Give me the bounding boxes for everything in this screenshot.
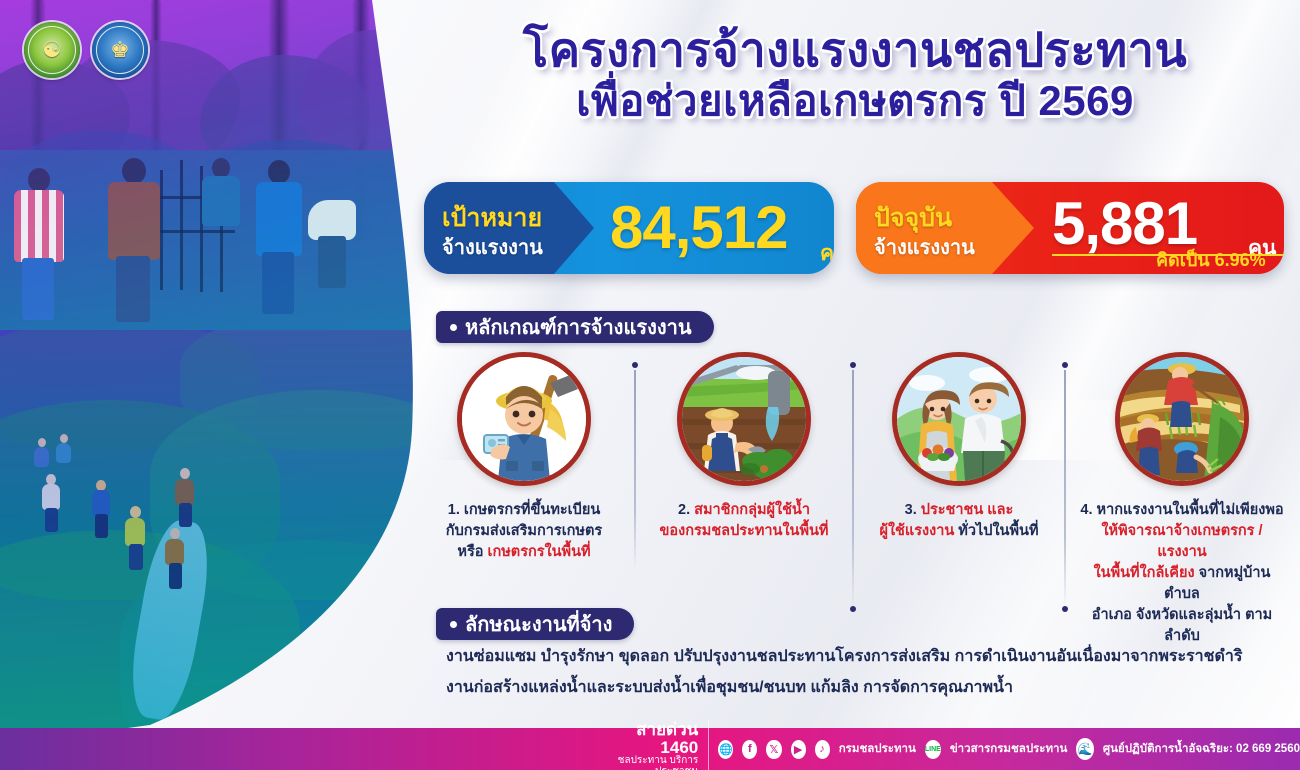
criteria-divider (1064, 370, 1066, 608)
criteria-divider (852, 370, 854, 608)
news-label: ข่าวสารกรมชลประทาน (950, 740, 1068, 758)
x-twitter-icon[interactable]: 𝕏 (766, 740, 781, 759)
criteria-2-prefix: 2. (678, 502, 694, 518)
target-label-secondary: จ้างแรงงาน (442, 231, 543, 263)
swoc-water-icon[interactable]: 🌊 (1076, 738, 1093, 760)
criteria-heading-label: หลักเกณฑ์การจ้างแรงงาน (465, 311, 692, 343)
villagers-with-vegetables-icon (892, 352, 1026, 486)
stat-cards: เป้าหมาย จ้างแรงงาน 84,512 คน ปัจจุบัน จ… (424, 182, 1284, 284)
work-line-2: งานก่อสร้างแหล่งน้ำและระบบส่งน้ำเพื่อชุม… (446, 676, 1246, 700)
criteria-1-line-1: 1. เกษตรกรที่ขึ้นทะเบียน (424, 500, 624, 521)
criteria-4-line-2: ให้พิจารณาจ้างเกษตรกร / แรงงาน (1076, 521, 1288, 563)
criteria-section-heading: หลักเกณฑ์การจ้างแรงงาน (436, 311, 714, 343)
terraced-rice-field-workers-icon (1115, 352, 1249, 486)
criteria-3-prefix: 3. (905, 502, 921, 518)
farmer-watering-crops-icon (677, 352, 811, 486)
criteria-item-4: 4. หากแรงงานในพื้นที่ไม่เพียงพอ ให้พิจาร… (1076, 352, 1288, 647)
criteria-2-line-1: 2. สมาชิกกลุ่มผู้ใช้น้ำ (646, 500, 842, 521)
criteria-item-4-text: 4. หากแรงงานในพื้นที่ไม่เพียงพอ ให้พิจาร… (1076, 500, 1288, 647)
criteria-3-plain: ทั่วไปในพื้นที่ (954, 523, 1038, 539)
criteria-1-highlight: เกษตรกรในพื้นที่ (488, 544, 591, 560)
target-stat-card: เป้าหมาย จ้างแรงงาน 84,512 คน (424, 182, 834, 274)
criteria-3-line-1: 3. ประชาชน และ (864, 500, 1054, 521)
tiktok-icon[interactable]: ♪ (815, 740, 830, 759)
criteria-3-line-2: ผู้ใช้แรงงาน ทั่วไปในพื้นที่ (864, 521, 1054, 542)
criteria-1-line-3: หรือ เกษตรกรในพื้นที่ (424, 542, 624, 563)
target-value: 84,512 (610, 198, 788, 258)
criteria-1-plain: หรือ (457, 544, 487, 560)
criteria-item-3: 3. ประชาชน และ ผู้ใช้แรงงาน ทั่วไปในพื้น… (864, 352, 1054, 542)
facebook-icon[interactable]: f (742, 740, 757, 759)
criteria-item-3-text: 3. ประชาชน และ ผู้ใช้แรงงาน ทั่วไปในพื้น… (864, 500, 1054, 542)
criteria-item-2: 2. สมาชิกกลุ่มผู้ใช้น้ำ ของกรมชลประทานใน… (646, 352, 842, 542)
criteria-item-1-text: 1. เกษตรกรที่ขึ้นทะเบียน กับกรมส่งเสริมก… (424, 500, 624, 563)
work-line-1: งานซ่อมแซม บำรุงรักษา ขุดลอก ปรับปรุงงาน… (446, 645, 1246, 669)
page-title: โครงการจ้างแรงงานชลประทาน เพื่อช่วยเหลือ… (430, 24, 1280, 125)
work-description: งานซ่อมแซม บำรุงรักษา ขุดลอก ปรับปรุงงาน… (446, 645, 1246, 707)
ministry-of-agriculture-emblem: ☯ (24, 22, 80, 78)
current-stat-card: ปัจจุบัน จ้างแรงงาน 5,881 คน คิดเป็น 6.9… (856, 182, 1284, 274)
criteria-3-highlight-2: ผู้ใช้แรงงาน (879, 523, 954, 539)
criteria-list: 1. เกษตรกรที่ขึ้นทะเบียน กับกรมส่งเสริมก… (424, 352, 1288, 592)
criteria-2-line-2: ของกรมชลประทานในพื้นที่ (646, 521, 842, 542)
criteria-1-line-2: กับกรมส่งเสริมการเกษตร (424, 521, 624, 542)
criteria-4-highlight: ในพื้นที่ใกล้เคียง (1094, 565, 1195, 581)
criteria-divider (634, 370, 636, 570)
line-app-icon[interactable]: LINE (925, 740, 941, 759)
target-unit: คน (820, 237, 834, 270)
hotline-number: สายด่วน 1460 (600, 721, 698, 757)
bullet-icon (450, 621, 457, 628)
agency-emblems: ☯ ♚ (24, 22, 148, 78)
swoc-label: ศูนย์ปฏิบัติการน้ำอัจฉริยะ: 02 669 2560 (1103, 740, 1300, 758)
hotline-block: สายด่วน 1460 ชลประทาน บริการประชาชน (600, 721, 709, 770)
work-heading-label: ลักษณะงานที่จ้าง (465, 608, 612, 640)
criteria-item-2-text: 2. สมาชิกกลุ่มผู้ใช้น้ำ ของกรมชลประทานใน… (646, 500, 842, 542)
hotline-subtitle: ชลประทาน บริการประชาชน (600, 756, 698, 770)
title-line-1: โครงการจ้างแรงงานชลประทาน (430, 24, 1280, 77)
current-percent: คิดเป็น 6.96% (1156, 245, 1266, 274)
criteria-item-1: 1. เกษตรกรที่ขึ้นทะเบียน กับกรมส่งเสริมก… (424, 352, 624, 563)
title-line-2: เพื่อช่วยเหลือเกษตรกร ปี 2569 (430, 77, 1280, 125)
bullet-icon (450, 324, 457, 331)
criteria-4-line-4: อำเภอ จังหวัดและลุ่มน้ำ ตามลำดับ (1076, 605, 1288, 647)
globe-icon[interactable]: 🌐 (718, 740, 733, 759)
infographic-canvas: ☯ ♚ โครงการจ้างแรงงานชลประทาน เพื่อช่วยเ… (0, 0, 1300, 770)
criteria-2-highlight: สมาชิกกลุ่มผู้ใช้น้ำ (694, 502, 810, 518)
current-label-secondary: จ้างแรงงาน (874, 231, 975, 263)
work-section-heading: ลักษณะงานที่จ้าง (436, 608, 634, 640)
royal-irrigation-department-emblem: ♚ (92, 22, 148, 78)
department-label: กรมชลประทาน (839, 740, 916, 758)
criteria-3-highlight: ประชาชน และ (921, 502, 1014, 518)
farmer-with-hoe-and-id-card-icon (457, 352, 591, 486)
youtube-icon[interactable]: ▶ (791, 740, 806, 759)
criteria-4-line-1: 4. หากแรงงานในพื้นที่ไม่เพียงพอ (1076, 500, 1288, 521)
footer-content: สายด่วน 1460 ชลประทาน บริการประชาชน 🌐 f … (600, 728, 1300, 770)
criteria-4-line-3: ในพื้นที่ใกล้เคียง จากหมู่บ้าน ตำบล (1076, 563, 1288, 605)
footer-bar: สายด่วน 1460 ชลประทาน บริการประชาชน 🌐 f … (0, 728, 1300, 770)
